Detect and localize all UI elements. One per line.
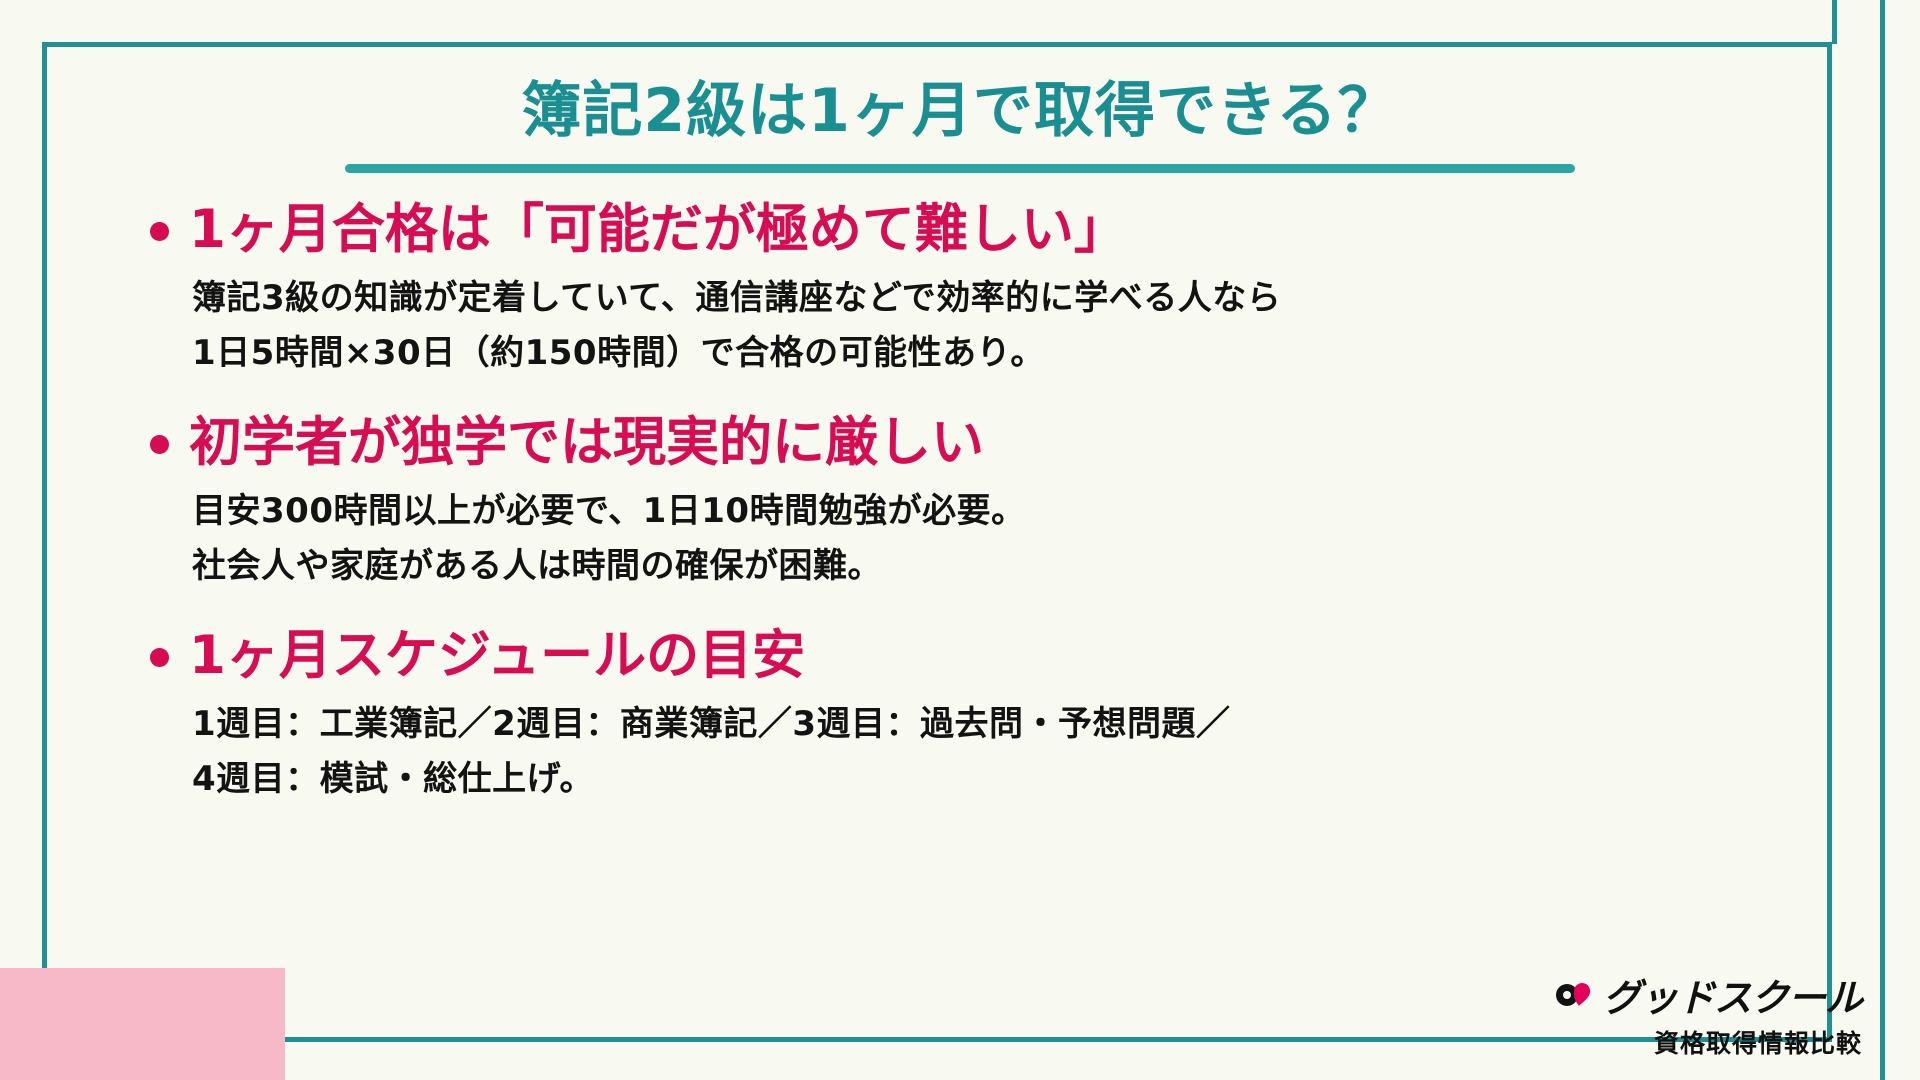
body-line: 1週目：工業簿記／2週目：商業簿記／3週目：過去問・予想問題／: [192, 697, 1770, 752]
title-underline: [345, 164, 1575, 173]
section-2-body: 目安300時間以上が必要で、1日10時間勉強が必要。 社会人や家庭がある人は時間…: [192, 484, 1770, 594]
right-accent-line-inner: [1832, 0, 1837, 44]
body-line: 4週目：模試・総仕上げ。: [192, 752, 1770, 807]
content-body: 1ヶ月合格は「可能だが極めて難しい」 簿記3級の知識が定着していて、通信講座など…: [150, 196, 1770, 813]
brand-logo-row: グッドスクール: [1462, 967, 1862, 1022]
section-2-heading-row: 初学者が独学では現実的に厳しい: [150, 409, 1770, 478]
section-3-heading-row: 1ヶ月スケジュールの目安: [150, 622, 1770, 691]
section-1: 1ヶ月合格は「可能だが極めて難しい」 簿記3級の知識が定着していて、通信講座など…: [150, 196, 1770, 381]
bullet-dot-icon: [150, 435, 169, 454]
section-3-body: 1週目：工業簿記／2週目：商業簿記／3週目：過去問・予想問題／ 4週目：模試・総…: [192, 697, 1770, 807]
right-accent-line-outer: [1880, 0, 1885, 1080]
section-2-heading: 初学者が独学では現実的に厳しい: [189, 409, 984, 478]
section-1-heading-row: 1ヶ月合格は「可能だが極めて難しい」: [150, 196, 1770, 265]
page-title: 簿記2級は1ヶ月で取得できる？: [521, 78, 1398, 144]
brand-logo: グッドスクール 資格取得情報比較: [1462, 967, 1862, 1060]
section-2: 初学者が独学では現実的に厳しい 目安300時間以上が必要で、1日10時間勉強が必…: [150, 409, 1770, 594]
slide-root: 簿記2級は1ヶ月で取得できる？ 1ヶ月合格は「可能だが極めて難しい」 簿記3級の…: [0, 0, 1920, 1080]
heart-logo-icon: [1555, 975, 1595, 1015]
section-3-heading: 1ヶ月スケジュールの目安: [189, 622, 805, 691]
body-line: 簿記3級の知識が定着していて、通信講座などで効率的に学べる人なら: [192, 271, 1770, 326]
brand-tagline: 資格取得情報比較: [1462, 1024, 1862, 1060]
body-line: 1日5時間×30日（約150時間）で合格の可能性あり。: [192, 326, 1770, 381]
bullet-dot-icon: [150, 648, 169, 667]
section-1-body: 簿記3級の知識が定着していて、通信講座などで効率的に学べる人なら 1日5時間×3…: [192, 271, 1770, 381]
section-3: 1ヶ月スケジュールの目安 1週目：工業簿記／2週目：商業簿記／3週目：過去問・予…: [150, 622, 1770, 807]
pink-accent-block: [0, 968, 285, 1080]
bullet-dot-icon: [150, 222, 169, 241]
body-line: 目安300時間以上が必要で、1日10時間勉強が必要。: [192, 484, 1770, 539]
section-1-heading: 1ヶ月合格は「可能だが極めて難しい」: [189, 196, 1127, 265]
brand-name: グッドスクール: [1603, 967, 1862, 1022]
title-container: 簿記2級は1ヶ月で取得できる？: [0, 78, 1920, 144]
body-line: 社会人や家庭がある人は時間の確保が困難。: [192, 539, 1770, 594]
